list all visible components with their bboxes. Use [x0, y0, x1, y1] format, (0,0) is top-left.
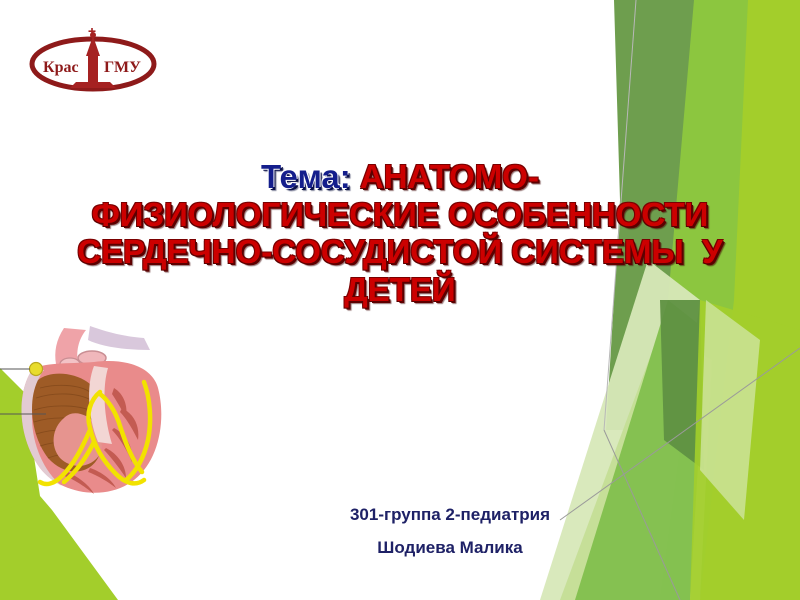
heart-sa-node — [30, 363, 43, 376]
heart-pulmonary-artery — [88, 326, 150, 350]
logo-wordmark-left: Крас — [43, 59, 79, 76]
title-label-tema: Тема: — [261, 158, 351, 195]
title-line-4: ДЕТЕЙ — [40, 271, 760, 309]
presentation-slide: Крас ГМУ — [0, 0, 800, 600]
title-line-1: Тема: АНАТОМО- — [40, 158, 760, 196]
slide-subtitle: 301-группа 2-педиатрия Шодиева Малика — [230, 498, 670, 564]
slide-title: Тема: АНАТОМО- ФИЗИОЛОГИЧЕСКИЕ ОСОБЕННОС… — [40, 158, 760, 308]
krasgmu-logo: Крас ГМУ — [28, 26, 158, 98]
title-line-1-red: АНАТОМО- — [360, 158, 539, 195]
title-spacer — [351, 158, 360, 195]
title-line-3: СЕРДЕЧНО-СОСУДИСТОЙ СИСТЕМЫ У — [40, 233, 760, 271]
title-line-2: ФИЗИОЛОГИЧЕСКИЕ ОСОБЕННОСТИ — [40, 196, 760, 234]
heart-anatomy-illustration — [0, 322, 206, 508]
subtitle-author: Шодиева Малика — [230, 531, 670, 564]
subtitle-group: 301-группа 2-педиатрия — [230, 498, 670, 531]
logo-wordmark-right: ГМУ — [104, 59, 141, 76]
